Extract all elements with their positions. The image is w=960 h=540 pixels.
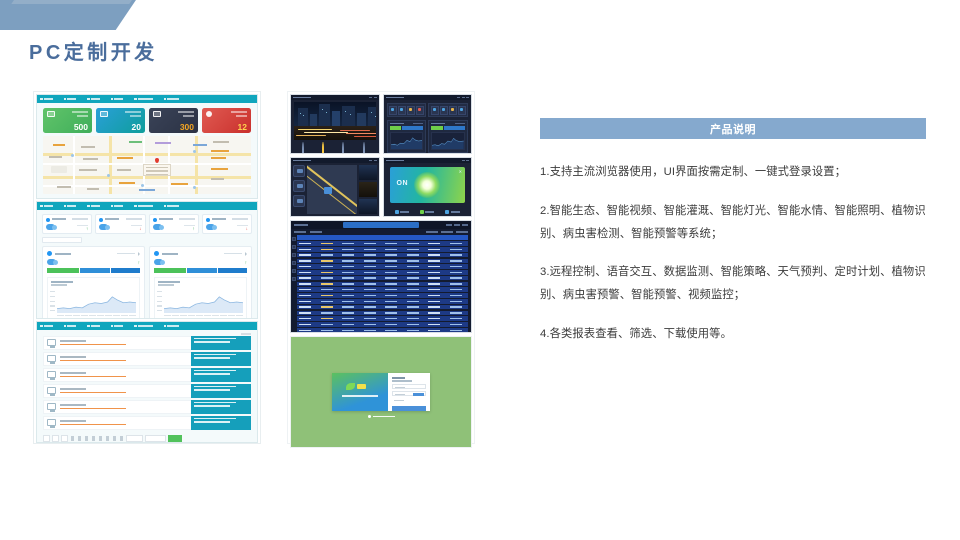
map-marker[interactable] <box>324 187 332 194</box>
light-controls[interactable] <box>390 210 466 214</box>
stat-card-4[interactable]: 12 <box>202 108 251 133</box>
screenshot-device-list-table <box>36 321 258 443</box>
trend-value: ↑ <box>138 260 140 265</box>
gear-icon <box>47 251 52 256</box>
stat-card-1[interactable]: 500 <box>43 108 92 133</box>
trend-value: ↑ <box>193 227 195 231</box>
stat-card-3[interactable]: 300 <box>149 108 198 133</box>
decorative-parallelogram <box>0 0 160 30</box>
list-item[interactable] <box>43 336 251 350</box>
light-state-label: ON <box>397 180 409 187</box>
light-toggle-on[interactable] <box>420 210 435 214</box>
detail-button[interactable] <box>191 400 251 414</box>
monitor-icon <box>47 339 56 346</box>
light-icon[interactable] <box>342 143 347 151</box>
weather-card[interactable]: ↓ <box>202 214 252 234</box>
station-icon <box>99 218 103 222</box>
camera-thumb[interactable] <box>359 199 377 214</box>
light-icon[interactable] <box>363 143 368 151</box>
screenshot-weather-monitoring-panels: ↑ ↓ ↑ ↓ <box>36 201 258 319</box>
monitor-panel-right: ↑ <box>149 246 252 319</box>
region-select[interactable] <box>42 237 82 243</box>
screenshot-login-page <box>290 336 472 448</box>
table-row[interactable] <box>297 328 468 333</box>
camera-tool-icon[interactable] <box>293 165 305 177</box>
detail-button[interactable] <box>191 368 251 382</box>
weather-card[interactable]: ↓ <box>95 214 145 234</box>
description-paragraph-3: 3.远程控制、语音交互、数据监测、智能策略、天气预判、定时计划、植物识别、病虫害… <box>540 261 926 307</box>
light-preview: ON ✕ <box>390 167 466 203</box>
weather-card-row: ↑ ↓ ↑ ↓ <box>37 210 257 236</box>
table-row[interactable] <box>297 270 468 275</box>
table-row[interactable] <box>297 293 468 298</box>
page-title: PC定制开发 <box>29 36 158 65</box>
weather-card[interactable]: ↑ <box>42 214 92 234</box>
stat-value: 500 <box>74 123 88 132</box>
trend-value: ↑ <box>86 227 88 231</box>
page-jump-input[interactable] <box>145 435 166 442</box>
page-next[interactable] <box>61 435 68 442</box>
detail-button[interactable] <box>191 416 251 430</box>
page-prev[interactable] <box>52 435 59 442</box>
progress-bars <box>47 268 140 273</box>
cloud-icon <box>46 224 55 230</box>
username-input[interactable] <box>392 384 426 389</box>
table-row[interactable] <box>297 311 468 316</box>
table-pagination[interactable] <box>291 333 471 334</box>
description-body: 1.支持主流浏览器使用，UI界面按需定制、一键式登录设置； 2.智能生态、智能视… <box>540 139 926 346</box>
progress-bars <box>154 268 247 273</box>
monitor-icon <box>153 111 161 117</box>
camera-thumbnail-strip[interactable] <box>359 165 377 214</box>
login-branding-panel <box>332 373 388 411</box>
slide-canvas: PC定制开发 500 20 <box>0 0 960 540</box>
table-row[interactable] <box>297 299 468 304</box>
zoom-tool-icon[interactable] <box>293 195 305 207</box>
detail-button[interactable] <box>191 384 251 398</box>
monitor-icon <box>47 111 55 117</box>
login-card <box>332 373 430 411</box>
list-item[interactable] <box>43 352 251 366</box>
trend-value: ↑ <box>245 260 247 265</box>
stat-value: 12 <box>238 123 247 132</box>
nav-bar <box>37 95 257 103</box>
cloud-icon <box>154 259 163 265</box>
layer-tool-icon[interactable] <box>293 180 305 192</box>
table-row[interactable] <box>297 305 468 310</box>
monitor-icon <box>100 111 108 117</box>
left-screenshot-group: 500 20 300 12 <box>33 91 261 444</box>
list-item[interactable] <box>43 368 251 382</box>
table-row[interactable] <box>297 287 468 292</box>
leaf-icon <box>346 383 355 390</box>
chevron-right-icon[interactable] <box>138 252 140 256</box>
table-row[interactable] <box>297 259 468 264</box>
metric-panel <box>428 120 468 153</box>
stat-card-row: 500 20 300 12 <box>37 103 257 136</box>
page-first[interactable] <box>43 435 50 442</box>
gis-map[interactable] <box>307 165 357 214</box>
traffic-camera-image <box>294 102 376 140</box>
nav-bar <box>37 322 257 330</box>
cloud-icon <box>99 224 108 230</box>
station-icon <box>46 218 50 222</box>
table-row[interactable] <box>297 282 468 287</box>
screenshot-dark-data-table <box>290 220 472 333</box>
login-form <box>388 373 430 411</box>
weather-card[interactable]: ↑ <box>149 214 199 234</box>
light-toggle[interactable] <box>445 210 460 214</box>
light-toggle[interactable] <box>395 210 410 214</box>
table-row[interactable] <box>297 253 468 258</box>
dark-area-chart <box>431 132 465 150</box>
area-chart <box>154 277 247 319</box>
table-row[interactable] <box>297 276 468 281</box>
table-row[interactable] <box>297 264 468 269</box>
screenshot-dashboard-map-overview: 500 20 300 12 <box>36 94 258 199</box>
screenshot-night-traffic-camera-view <box>290 94 380 154</box>
remember-row[interactable] <box>392 398 426 403</box>
table-row[interactable] <box>297 241 468 246</box>
camera-thumb[interactable] <box>359 182 377 197</box>
description-paragraph-1: 1.支持主流浏览器使用，UI界面按需定制、一键式登录设置； <box>540 161 926 184</box>
nav-bar <box>37 202 257 210</box>
stat-value: 300 <box>180 123 194 132</box>
table-grid <box>297 235 471 333</box>
screenshot-smart-light-control: ON ✕ <box>383 157 473 217</box>
cloud-icon <box>47 259 56 265</box>
map-tool-buttons[interactable] <box>293 165 305 207</box>
light-icon[interactable] <box>302 143 307 151</box>
login-button[interactable] <box>392 406 426 411</box>
monitor-icon <box>47 403 56 410</box>
stat-value: 20 <box>132 123 141 132</box>
station-icon <box>206 218 210 222</box>
trend-value: ↓ <box>139 227 141 231</box>
camera-control-icons[interactable] <box>294 143 376 151</box>
detail-button[interactable] <box>191 336 251 350</box>
description-paragraph-4: 4.各类报表查看、筛选、下载使用等。 <box>540 323 926 346</box>
table-row[interactable] <box>297 247 468 252</box>
description-header: 产品说明 <box>540 118 926 139</box>
stat-card-2[interactable]: 20 <box>96 108 145 133</box>
description-paragraph-2: 2.智能生态、智能视频、智能灌溉、智能灯光、智能水情、智能照明、植物识别、病虫害… <box>540 200 926 246</box>
cloud-icon <box>153 224 162 230</box>
captcha-image[interactable] <box>413 393 424 396</box>
station-icon <box>153 218 157 222</box>
gear-icon <box>154 251 159 256</box>
monitor-icon <box>47 387 56 394</box>
monitor-panel-left: ↑ <box>42 246 145 319</box>
light-icon-active[interactable] <box>322 143 327 151</box>
metric-panel <box>387 120 427 153</box>
page-go-button[interactable] <box>168 435 182 442</box>
glow-effect <box>414 172 440 198</box>
close-icon[interactable]: ✕ <box>459 169 462 174</box>
cloud-icon <box>206 224 215 230</box>
area-chart <box>47 277 140 319</box>
list-item[interactable] <box>43 400 251 414</box>
product-description: 产品说明 1.支持主流浏览器使用，UI界面按需定制、一键式登录设置； 2.智能生… <box>540 118 926 346</box>
monitor-icon <box>47 419 56 426</box>
right-screenshot-group: ON ✕ <box>287 91 475 444</box>
screenshot-gis-map-camera-wall <box>290 157 380 217</box>
monitor-icon <box>47 355 56 362</box>
trend-value: ↓ <box>246 227 248 231</box>
page-size-select[interactable] <box>126 435 143 442</box>
description-header-label: 产品说明 <box>710 121 756 137</box>
table-row[interactable] <box>297 322 468 327</box>
table-title-bar <box>343 222 419 228</box>
list-item[interactable] <box>43 416 251 430</box>
table-header-row <box>297 235 468 240</box>
alert-icon <box>206 111 212 117</box>
list-item[interactable] <box>43 384 251 398</box>
table-row[interactable] <box>297 316 468 321</box>
password-input[interactable] <box>392 391 426 396</box>
brand-logo <box>346 383 366 390</box>
pagination[interactable] <box>37 432 257 443</box>
login-footer-note <box>332 415 430 418</box>
dark-area-chart <box>390 132 424 150</box>
camera-thumb[interactable] <box>359 165 377 180</box>
screenshot-dark-analytics-dashboard <box>383 94 473 154</box>
chevron-right-icon[interactable] <box>245 252 247 256</box>
monitor-icon <box>47 371 56 378</box>
detail-button[interactable] <box>191 352 251 366</box>
city-map[interactable] <box>43 136 251 194</box>
